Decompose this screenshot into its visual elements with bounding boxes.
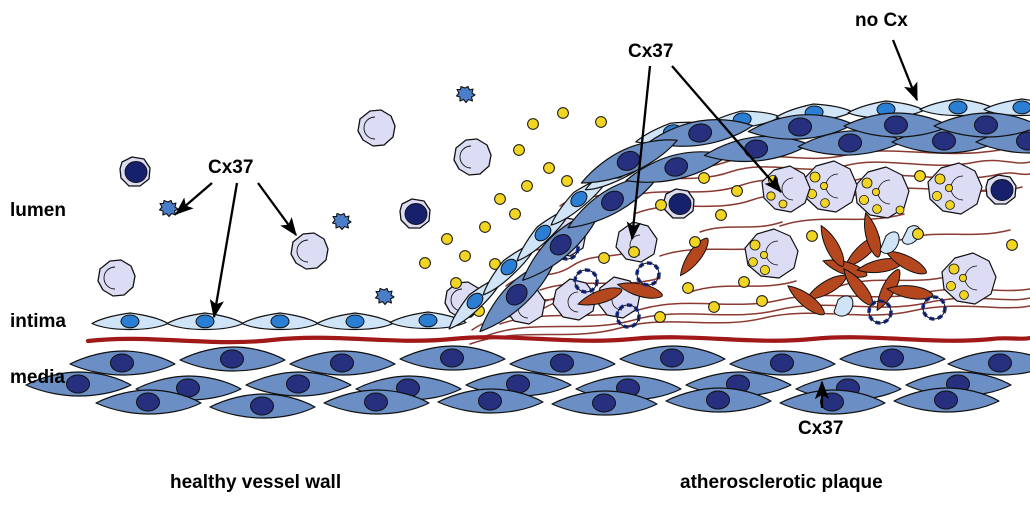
- annotation-no-cx: no Cx: [855, 10, 908, 32]
- annotation-cx37-healthy: Cx37: [208, 157, 253, 179]
- endothelium-healthy: [92, 312, 466, 330]
- arrow-no-cx-to-plaque-endo: [893, 40, 917, 100]
- arrow-cx37-to-monocyte: [258, 183, 296, 235]
- media-smooth-muscle: [26, 346, 1030, 418]
- caption-healthy-vessel-wall: healthy vessel wall: [170, 472, 341, 494]
- figure-canvas: lumen intima media Cx37 Cx37 no Cx Cx37 …: [0, 0, 1030, 510]
- arrow-cx37-to-platelet: [176, 183, 212, 214]
- vessel-wall-illustration: [0, 0, 1030, 510]
- layer-label-media: media: [10, 367, 65, 389]
- annotation-cx37-media: Cx37: [798, 418, 843, 440]
- annotation-cx37-plaque: Cx37: [628, 41, 673, 63]
- caption-atherosclerotic-plaque: atherosclerotic plaque: [680, 472, 883, 494]
- arrow-cx37-to-endothelium: [214, 183, 237, 317]
- layer-label-intima: intima: [10, 311, 66, 333]
- layer-label-lumen: lumen: [10, 200, 66, 222]
